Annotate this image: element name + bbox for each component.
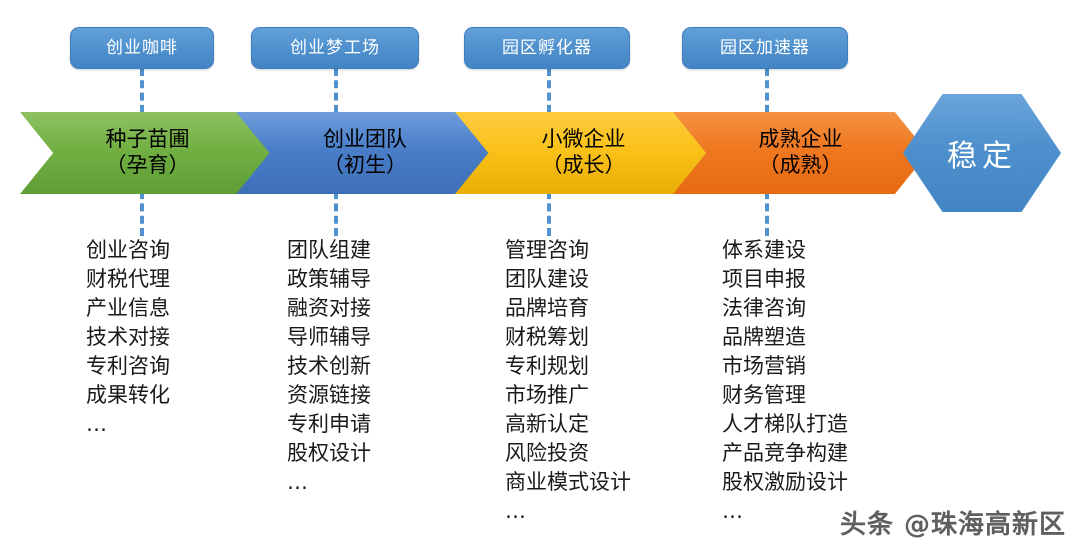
service-item: 导师辅导 <box>287 323 371 352</box>
service-item: 财务管理 <box>722 381 848 410</box>
service-item: 产业信息 <box>86 294 170 323</box>
service-item: 财税代理 <box>86 265 170 294</box>
service-item: 股权设计 <box>287 439 371 468</box>
service-item: 体系建设 <box>722 236 848 265</box>
stage-line-2: （孕育） <box>106 153 190 177</box>
stage-chevron-seed[interactable]: 种子苗圃 （孕育） <box>20 112 275 194</box>
stage-line-2: （成长） <box>542 153 626 177</box>
stage-line-1: 创业团队 <box>323 127 407 151</box>
service-item: 市场营销 <box>722 352 848 381</box>
carrier-box-yuanqu-fuhuaqi[interactable]: 园区孵化器 <box>464 27 630 69</box>
terminal-hexagon-stable[interactable]: 稳定 <box>903 94 1061 212</box>
service-item: 资源链接 <box>287 381 371 410</box>
carrier-box-yuanqu-jiasuqi[interactable]: 园区加速器 <box>682 27 848 69</box>
stage-chevron-team[interactable]: 创业团队 （初生） <box>236 112 494 194</box>
carrier-box-chuangye-kafei[interactable]: 创业咖啡 <box>70 27 214 69</box>
service-item: 技术对接 <box>86 323 170 352</box>
service-item: 风险投资 <box>505 439 631 468</box>
service-item: 高新认定 <box>505 410 631 439</box>
service-item: 商业模式设计 <box>505 468 631 497</box>
service-item: 品牌塑造 <box>722 323 848 352</box>
stage-chevron-mature-enterprise-label: 成熟企业 （成熟） <box>759 127 843 178</box>
stage-chevron-small-enterprise[interactable]: 小微企业 （成长） <box>455 112 712 194</box>
service-item: 专利申请 <box>287 410 371 439</box>
watermark: 头条 @珠海高新区 <box>840 504 1066 541</box>
service-list-small-enterprise: 管理咨询 团队建设 品牌培育 财税筹划 专利规划 市场推广 高新认定 风险投资 … <box>505 236 631 526</box>
terminal-hexagon-label: 稳定 <box>947 131 1017 175</box>
service-item: 团队建设 <box>505 265 631 294</box>
service-list-ellipsis: … <box>505 497 631 526</box>
stage-line-1: 种子苗圃 <box>106 127 190 151</box>
service-list-ellipsis: … <box>86 410 170 439</box>
service-item: 创业咨询 <box>86 236 170 265</box>
carrier-box-chuangye-menggongchang[interactable]: 创业梦工场 <box>251 27 419 69</box>
stage-line-2: （成熟） <box>759 153 843 177</box>
stage-line-1: 小微企业 <box>542 127 626 151</box>
stage-line-1: 成熟企业 <box>759 127 843 151</box>
service-item: 管理咨询 <box>505 236 631 265</box>
stage-chevron-mature-enterprise[interactable]: 成熟企业 （成熟） <box>673 112 928 194</box>
service-item: 技术创新 <box>287 352 371 381</box>
service-list-seed: 创业咨询 财税代理 产业信息 技术对接 专利咨询 成果转化 … <box>86 236 170 439</box>
service-list-ellipsis: … <box>287 468 371 497</box>
service-item: 财税筹划 <box>505 323 631 352</box>
service-item: 专利咨询 <box>86 352 170 381</box>
stage-chevron-seed-label: 种子苗圃 （孕育） <box>106 127 190 178</box>
service-item: 成果转化 <box>86 381 170 410</box>
service-list-ellipsis: … <box>722 497 848 526</box>
service-item: 政策辅导 <box>287 265 371 294</box>
diagram-canvas: 创业咖啡 创业梦工场 园区孵化器 园区加速器 种子苗圃 （孕育） 创业团队 （初… <box>0 0 1080 547</box>
service-item: 融资对接 <box>287 294 371 323</box>
service-item: 产品竞争构建 <box>722 439 848 468</box>
service-item: 专利规划 <box>505 352 631 381</box>
service-item: 法律咨询 <box>722 294 848 323</box>
service-item: 项目申报 <box>722 265 848 294</box>
service-list-team: 团队组建 政策辅导 融资对接 导师辅导 技术创新 资源链接 专利申请 股权设计 … <box>287 236 371 497</box>
stage-line-2: （初生） <box>323 153 407 177</box>
service-item: 团队组建 <box>287 236 371 265</box>
service-item: 品牌培育 <box>505 294 631 323</box>
service-list-mature-enterprise: 体系建设 项目申报 法律咨询 品牌塑造 市场营销 财务管理 人才梯队打造 产品竞… <box>722 236 848 526</box>
service-item: 股权激励设计 <box>722 468 848 497</box>
service-item: 市场推广 <box>505 381 631 410</box>
stage-chevron-small-enterprise-label: 小微企业 （成长） <box>542 127 626 178</box>
stage-chevron-team-label: 创业团队 （初生） <box>323 127 407 178</box>
service-item: 人才梯队打造 <box>722 410 848 439</box>
